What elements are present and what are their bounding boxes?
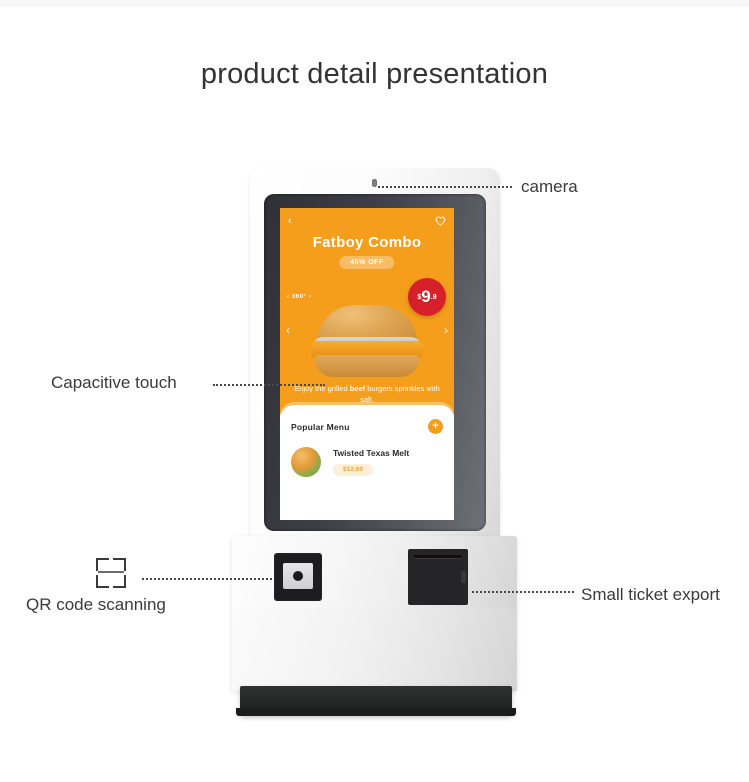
callout-label-small-ticket-export: Small ticket export <box>581 585 720 605</box>
qr-scan-icon <box>96 558 126 588</box>
qr-scanner-module[interactable] <box>274 553 322 601</box>
callout-label-qr-code-scanning: QR code scanning <box>26 595 166 615</box>
ticket-leader-line <box>472 591 574 593</box>
callout-label-capacitive-touch: Capacitive touch <box>51 373 177 393</box>
qr-leader-line <box>142 578 272 580</box>
carousel-prev-icon[interactable]: ‹ <box>286 323 290 337</box>
page-title: product detail presentation <box>0 58 749 91</box>
qr-scanner-window <box>283 563 313 589</box>
add-item-button[interactable]: + <box>428 419 443 434</box>
heart-icon[interactable] <box>435 216 446 226</box>
camera-icon <box>372 179 377 187</box>
screenshot-canvas: product detail presentation ‹ <box>0 0 749 782</box>
touch-screen[interactable]: ‹ Fatboy Combo 45% OFF ‹ 360° › $9.9 <box>280 208 454 520</box>
qr-scanner-lens-icon <box>293 571 303 581</box>
carousel-next-icon[interactable]: › <box>444 323 448 337</box>
kiosk-device: ‹ Fatboy Combo 45% OFF ‹ 360° › $9.9 <box>232 168 517 723</box>
kiosk-base-stand <box>240 686 512 716</box>
qr-corner-top-left <box>96 558 109 571</box>
qr-corner-bottom-right <box>113 575 126 588</box>
chevron-left-icon[interactable]: ‹ <box>288 216 292 227</box>
kiosk-lower-body <box>232 536 517 691</box>
price-whole: 9 <box>421 287 430 307</box>
popular-menu-header: Popular Menu + <box>291 419 443 434</box>
burger-product-image <box>305 305 429 379</box>
capacitive-touch-leader-line <box>213 384 325 386</box>
screen-bezel: ‹ Fatboy Combo 45% OFF ‹ 360° › $9.9 <box>264 194 486 531</box>
printer-release-tab[interactable] <box>461 571 466 583</box>
ticket-printer-module[interactable] <box>408 549 468 605</box>
kiosk-body-panel <box>232 608 517 691</box>
popular-menu-sheet: Popular Menu + Twisted Texas Melt $12.69 <box>280 405 454 510</box>
popular-menu-title: Popular Menu <box>291 422 350 432</box>
menu-item-info: Twisted Texas Melt $12.69 <box>333 448 409 476</box>
menu-item-thumbnail <box>291 447 321 477</box>
qr-corner-top-right <box>113 558 126 571</box>
qr-corner-bottom-left <box>96 575 109 588</box>
discount-badge: 45% OFF <box>339 256 394 269</box>
price-decimals: .9 <box>431 294 437 301</box>
burger-bun-bottom <box>315 355 419 377</box>
hero-topbar: ‹ <box>280 213 454 229</box>
rotate-360-label[interactable]: ‹ 360° › <box>287 294 312 300</box>
caption-text-2: burgers sprinkles with salt. <box>360 384 440 404</box>
kiosk-screen-housing: ‹ Fatboy Combo 45% OFF ‹ 360° › $9.9 <box>250 168 500 550</box>
qr-scan-line <box>98 571 124 573</box>
menu-item-price: $12.69 <box>333 464 373 476</box>
ticket-printer-slot <box>414 555 462 558</box>
camera-leader-line <box>378 186 512 188</box>
caption-text-bold: beef <box>350 384 365 393</box>
callout-label-camera: camera <box>521 177 578 197</box>
menu-list-item[interactable]: Twisted Texas Melt $12.69 <box>291 447 443 477</box>
top-edge-band <box>0 0 749 7</box>
menu-item-name: Twisted Texas Melt <box>333 448 409 458</box>
promo-title: Fatboy Combo <box>280 234 454 251</box>
screen-bottom-fill <box>280 510 454 520</box>
